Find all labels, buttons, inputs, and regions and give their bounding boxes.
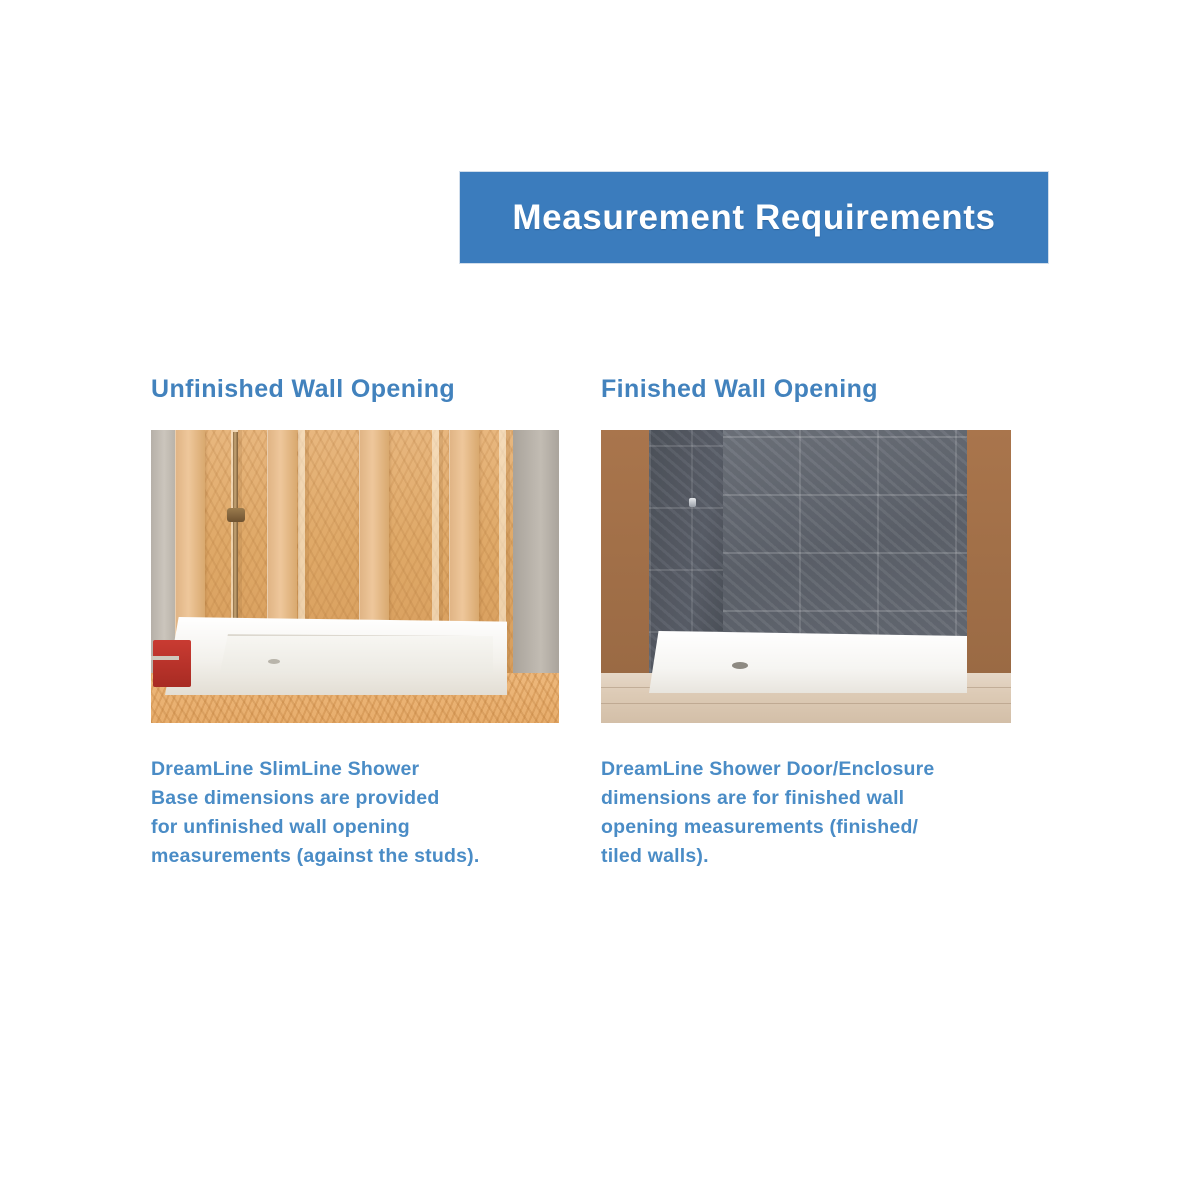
painted-wall-left: [601, 430, 649, 677]
red-toolbox: [153, 640, 191, 687]
toolbox-handle: [151, 656, 179, 660]
panel-finished-wall-opening: Finished Wall Opening DreamLine Shower D…: [601, 375, 1011, 891]
drain-icon: [268, 659, 280, 664]
shower-base-floor: [220, 634, 494, 673]
heading-unfinished-wall-opening: Unfinished Wall Opening: [151, 375, 559, 404]
photo-finished-wall-opening: [601, 430, 1011, 723]
wall-fixture-icon: [689, 498, 696, 507]
measurement-requirements-banner: Measurement Requirements: [460, 172, 1048, 263]
panel-unfinished-wall-opening: Unfinished Wall Opening DreamLine SlimLi…: [151, 375, 559, 891]
shower-base: [649, 631, 967, 693]
drain-icon: [732, 662, 748, 669]
caption-unfinished-wall-opening: DreamLine SlimLine Shower Base dimension…: [151, 755, 559, 871]
floor-tile-seam: [601, 703, 1011, 704]
pipe-fitting: [227, 508, 245, 522]
photo-unfinished-wall-opening: [151, 430, 559, 723]
caption-finished-wall-opening: DreamLine Shower Door/Enclosure dimensio…: [601, 755, 1011, 871]
heading-finished-wall-opening: Finished Wall Opening: [601, 375, 1011, 404]
painted-wall-right: [967, 430, 1011, 677]
page-title: Measurement Requirements: [512, 198, 995, 238]
shower-base: [165, 617, 507, 695]
